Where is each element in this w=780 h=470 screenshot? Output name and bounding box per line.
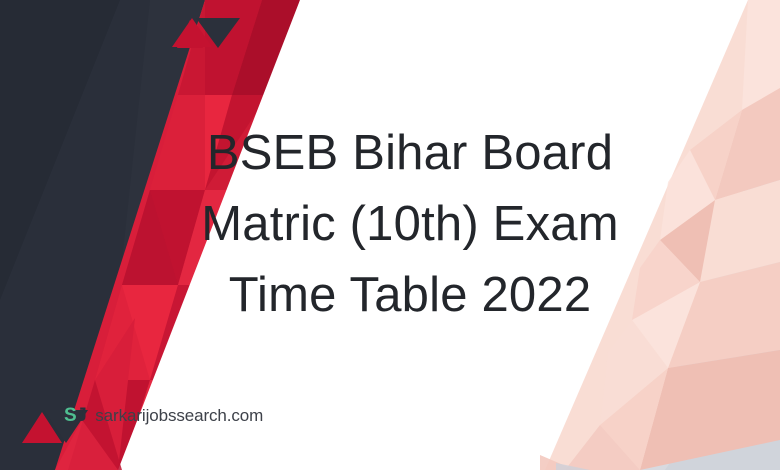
monogram-s: S xyxy=(64,405,76,426)
sj-monogram-icon: SJ xyxy=(64,406,86,425)
page-title: BSEB Bihar Board Matric (10th) Exam Time… xyxy=(140,118,680,331)
title-line-3: Time Table 2022 xyxy=(140,260,680,331)
title-line-1: BSEB Bihar Board xyxy=(140,118,680,189)
monogram-j: J xyxy=(76,405,86,426)
title-line-2: Matric (10th) Exam xyxy=(140,189,680,260)
site-logo[interactable]: SJ sarkarijobssearch.com xyxy=(64,406,263,425)
promo-banner: BSEB Bihar Board Matric (10th) Exam Time… xyxy=(0,0,780,470)
site-name-label: sarkarijobssearch.com xyxy=(95,407,263,424)
